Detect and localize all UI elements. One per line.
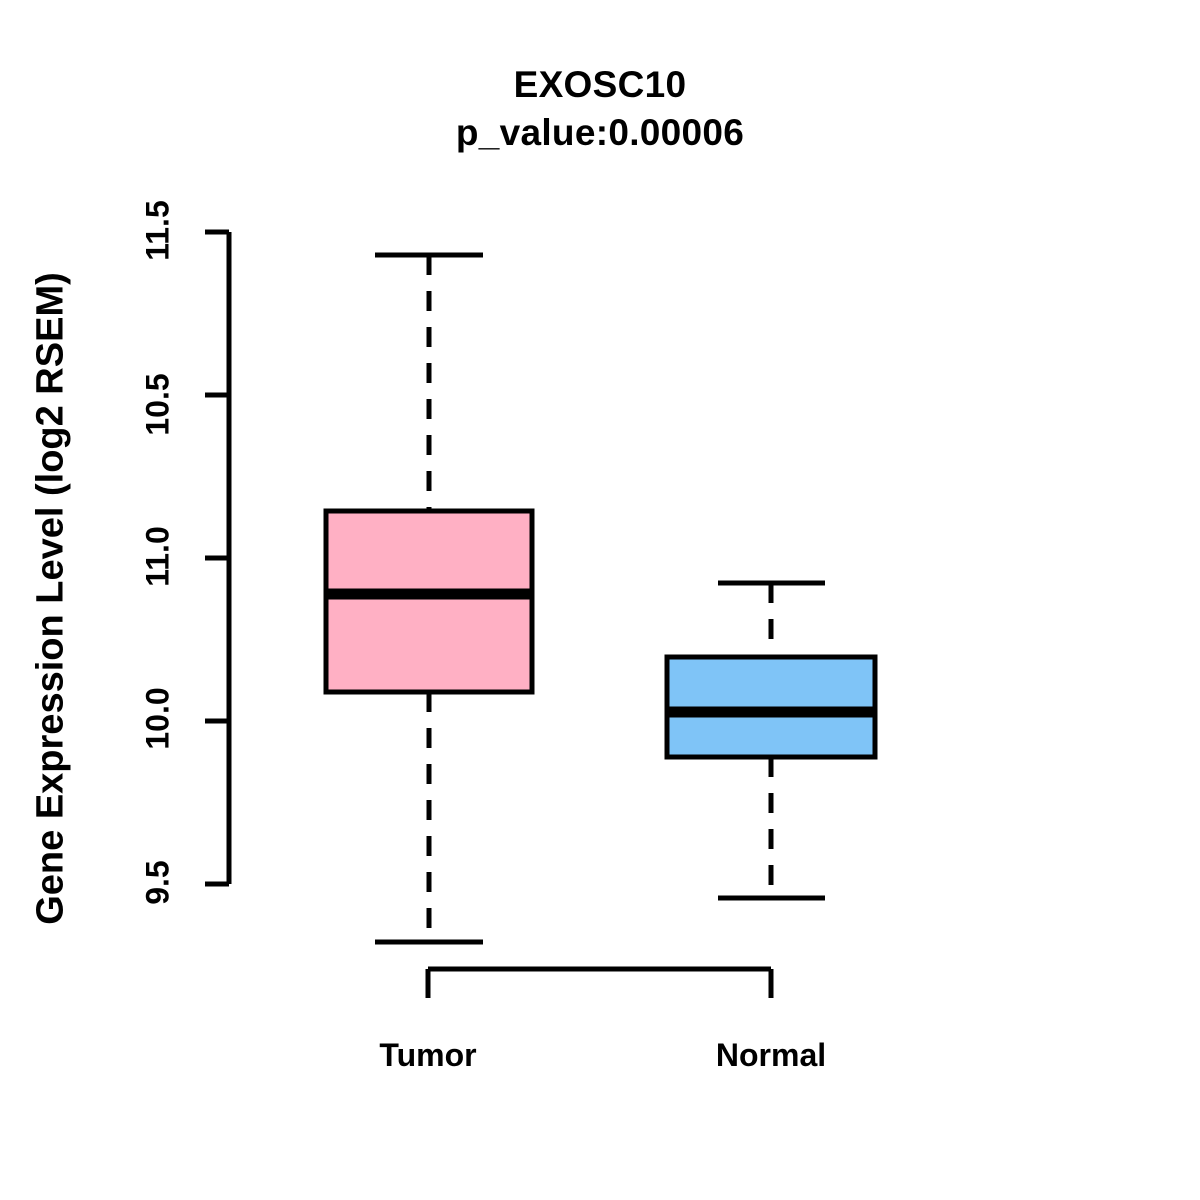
x-axis-bracket [428, 969, 771, 998]
box-rect-tumor[interactable] [326, 511, 532, 692]
plot-canvas [0, 0, 1200, 1200]
box-normal[interactable] [665, 583, 877, 898]
boxplot-figure: EXOSC10 p_value:0.00006 Gene Expression … [0, 0, 1200, 1200]
box-tumor[interactable] [324, 255, 534, 942]
